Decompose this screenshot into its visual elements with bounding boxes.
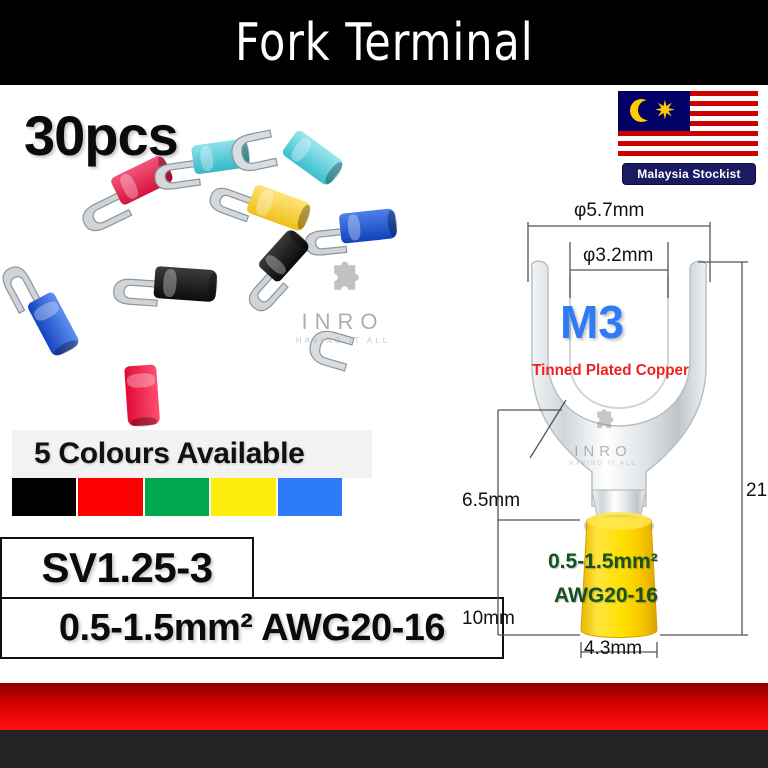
swatch-black bbox=[12, 478, 78, 516]
model-code: SV1.25-3 bbox=[41, 544, 212, 592]
page-title: Fork Terminal bbox=[235, 13, 534, 73]
spec-box: 0.5-1.5mm² AWG20-16 bbox=[0, 597, 504, 659]
red-accent-bar bbox=[0, 683, 768, 730]
product-listing-image: Fork Terminal 30pcs ✷ Malaysia Stockist bbox=[0, 0, 768, 768]
swatch-yellow bbox=[211, 478, 277, 516]
dim-outer-width: φ5.7mm bbox=[574, 200, 644, 222]
malaysia-flag-icon: ✷ bbox=[618, 91, 758, 161]
title-bar: Fork Terminal bbox=[0, 0, 768, 85]
dim-barrel-length: 10mm bbox=[462, 608, 515, 630]
puzzle-icon-small bbox=[589, 408, 617, 436]
colours-panel: 5 Colours Available bbox=[12, 430, 372, 478]
product-photo: INRO HAVING IT ALL bbox=[40, 120, 460, 450]
dim-total-length: 21.2mm bbox=[746, 480, 768, 502]
bare-fork-1 bbox=[226, 126, 280, 179]
technical-watermark: INRO HAVING IT ALL bbox=[548, 408, 658, 468]
thread-label: M3 bbox=[560, 295, 624, 349]
technical-watermark-tagline: HAVING IT ALL bbox=[548, 461, 658, 467]
technical-watermark-name: INRO bbox=[548, 443, 658, 460]
swatch-red bbox=[78, 478, 144, 516]
material-label: Tinned Plated Copper bbox=[532, 362, 689, 380]
dim-inner-gap: φ3.2mm bbox=[583, 245, 653, 267]
colour-swatches bbox=[12, 478, 342, 516]
bare-fork-2 bbox=[303, 323, 357, 376]
model-code-box: SV1.25-3 bbox=[0, 537, 254, 599]
technical-drawing: φ5.7mm φ3.2mm M3 Tinned Plated Copper 6.… bbox=[470, 190, 768, 660]
puzzle-icon bbox=[322, 260, 364, 302]
colours-label: 5 Colours Available bbox=[12, 437, 305, 471]
wire-awg-label: AWG20-16 bbox=[554, 584, 658, 608]
wire-area-label: 0.5-1.5mm² bbox=[548, 550, 658, 574]
swatch-blue bbox=[278, 478, 342, 516]
malaysia-stockist-badge: ✷ Malaysia Stockist bbox=[618, 91, 758, 183]
bottom-dark-bar bbox=[0, 730, 768, 768]
dim-barrel-width: 4.3mm bbox=[584, 638, 642, 660]
main-stage: 30pcs ✷ Malaysia Stockist bbox=[0, 85, 768, 683]
spec-text: 0.5-1.5mm² AWG20-16 bbox=[59, 607, 445, 650]
stockist-label: Malaysia Stockist bbox=[622, 163, 756, 185]
swatch-green bbox=[145, 478, 211, 516]
dim-fork-length: 6.5mm bbox=[462, 490, 520, 512]
